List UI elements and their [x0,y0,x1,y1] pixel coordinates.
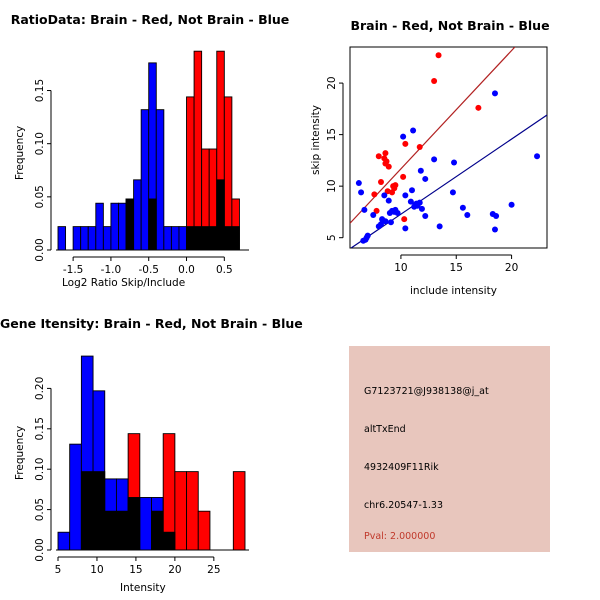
panel-info: G7123721@J938138@j_at altTxEnd 4932409F1… [300,300,600,600]
scatter-point [411,204,417,210]
histogram-bar [81,227,89,250]
histogram-bar [217,51,225,250]
scatter-point [493,213,499,219]
scatter-content [350,47,547,248]
histogram-bar [116,511,128,550]
histogram-bar [224,97,232,250]
scatter-y-ticklabel: 5 [326,234,338,241]
gene-y-ticklabel: 0.10 [34,458,46,481]
scatter-point [419,206,425,212]
scatter-point [371,191,377,197]
histogram-bar [58,532,70,550]
scatter-point [460,205,466,211]
histogram-bar [73,227,81,250]
scatter-point [417,144,423,150]
ratio-y-ticklabel: 0.15 [34,79,46,102]
histogram-bar [103,227,111,250]
histogram-bar [163,434,175,550]
scatter-point [402,192,408,198]
scatter-point [509,202,515,208]
scatter-y-ticklabel: 20 [326,76,338,89]
histogram-bar [58,227,66,250]
scatter-point [409,187,415,193]
scatter-point [381,192,387,198]
scatter-point [389,189,395,195]
histogram-bar [126,199,134,250]
scatter-x-ticklabel: 15 [450,262,463,274]
scatter-y-ticklabel: 10 [326,179,338,192]
histogram-bar [70,444,82,550]
info-event-type: altTxEnd [364,424,406,435]
histogram-bar [179,227,187,250]
gene-x-ticklabel: 15 [129,564,142,576]
histogram-bar [88,227,96,250]
scatter-point [376,153,382,159]
scatter-point [356,180,362,186]
scatter-point [534,153,540,159]
histogram-bar [232,199,240,250]
histogram-bar [118,203,126,250]
histogram-bar [209,149,217,250]
scatter-point [437,223,443,229]
scatter-point [361,207,367,213]
histogram-bar [105,511,117,550]
gene-x-ticklabel: 10 [90,564,103,576]
histogram-bar [164,227,172,250]
scatter-point [401,216,407,222]
histogram-bar [96,203,104,250]
ratio-histogram-canvas: -1.5-1.0-0.50.00.50.000.050.100.15 [0,0,300,300]
scatter-point [422,213,428,219]
histogram-bar [202,149,210,250]
panel-gene-histogram: Gene Itensity: Brain - Red, Not Brain - … [0,300,300,600]
gene-histogram-canvas: 5101520250.000.050.100.150.20 [0,300,300,600]
scatter-point [387,210,393,216]
gene-y-ticklabel: 0.05 [34,498,46,521]
gene-x-ticklabel: 25 [207,564,220,576]
scatter-point [400,174,406,180]
ratio-x-ticklabel: -0.5 [138,264,159,276]
scatter-point [451,159,457,165]
ratio-y-ticklabel: 0.00 [34,238,46,261]
scatter-point [464,212,470,218]
scatter-canvas: 1015205101520 [300,0,600,300]
scatter-point [400,134,406,140]
gene-y-ticklabel: 0.15 [34,417,46,440]
histogram-bar [140,497,152,550]
ratio-x-ticklabel: -1.0 [101,264,122,276]
histogram-bar [134,180,142,250]
histogram-bar [187,97,195,250]
histogram-bar [149,199,157,250]
histogram-bar [175,472,187,550]
scatter-point [388,219,394,225]
scatter-point [376,223,382,229]
ratio-x-ticklabel: 0.0 [178,264,195,276]
scatter-point [386,198,392,204]
scatter-point [360,238,366,244]
figure-root: RatioData: Brain - Red, Not Brain - Blue… [0,0,600,600]
ratio-y-ticklabel: 0.05 [34,185,46,208]
info-gene-symbol: 4932409F11Rik [364,462,439,473]
histogram-bar [93,472,105,550]
scatter-point [358,189,364,195]
scatter-point [418,168,424,174]
scatter-point [382,150,388,156]
scatter-series [356,90,540,243]
histogram-bar [152,511,164,550]
scatter-point [422,176,428,182]
histogram-bar [81,472,93,550]
scatter-point [402,225,408,231]
scatter-point [402,141,408,147]
info-probe-id: G7123721@J938138@j_at [364,386,489,397]
scatter-point [410,127,416,133]
scatter-point [492,90,498,96]
scatter-point [450,189,456,195]
scatter-point [386,164,392,170]
histogram-bar [233,472,245,550]
scatter-point [431,78,437,84]
scatter-point [431,156,437,162]
ratio-x-ticklabel: 0.5 [216,264,233,276]
scatter-point [492,226,498,232]
scatter-point [370,212,376,218]
gene-x-ticklabel: 5 [55,564,62,576]
ratio-y-ticklabel: 0.10 [34,132,46,155]
gene-y-ticklabel: 0.20 [34,377,46,400]
info-locus: chr6.20547-1.33 [364,500,443,511]
ratio-x-ticklabel: -1.5 [63,264,84,276]
histogram-bar [187,472,199,550]
histogram-bar [111,203,119,250]
panel-scatter: Brain - Red, Not Brain - Blue skip inten… [300,0,600,300]
histogram-bar [198,511,210,550]
scatter-y-ticklabel: 15 [326,128,338,141]
scatter-point [475,105,481,111]
histogram-bar [141,110,149,250]
scatter-point [436,52,442,58]
scatter-point [395,210,401,216]
histogram-bar [128,434,140,550]
histogram-bar [171,227,179,250]
histogram-bar [156,110,164,250]
scatter-x-ticklabel: 20 [505,262,518,274]
scatter-point [378,179,384,185]
gene-y-ticklabel: 0.00 [34,538,46,561]
gene-x-ticklabel: 20 [168,564,181,576]
scatter-x-ticklabel: 10 [394,262,407,274]
histogram-bar [194,51,202,250]
info-panel-background [349,346,550,552]
info-pval: Pval: 2.000000 [364,531,435,542]
panel-ratio-histogram: RatioData: Brain - Red, Not Brain - Blue… [0,0,300,300]
